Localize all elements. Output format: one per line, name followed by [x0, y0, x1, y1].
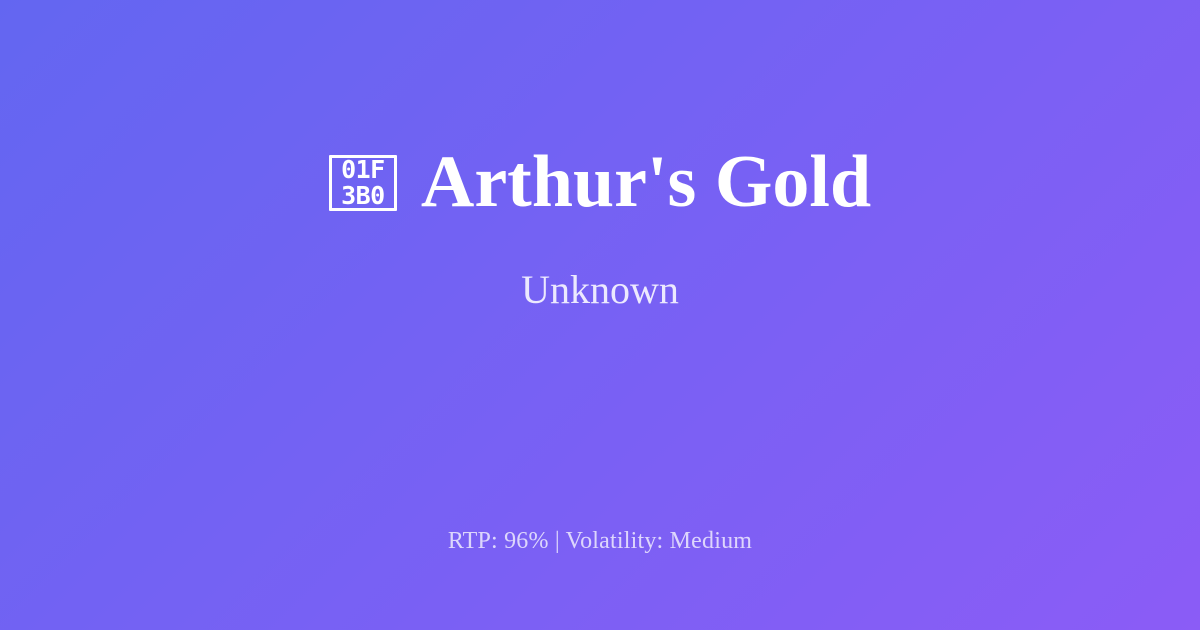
tofu-hex-bottom: 3B0	[341, 183, 385, 209]
hero-block: 01F 3B0 Arthur's Gold Unknown	[0, 0, 1200, 502]
game-og-card: 01F 3B0 Arthur's Gold Unknown RTP: 96% |…	[0, 0, 1200, 630]
provider-subtitle: Unknown	[521, 266, 679, 314]
slot-machine-icon: 01F 3B0	[329, 155, 397, 211]
game-stats-line: RTP: 96% | Volatility: Medium	[448, 527, 752, 556]
title-row: 01F 3B0 Arthur's Gold	[0, 142, 1200, 223]
page-title: Arthur's Gold	[421, 142, 871, 223]
footer-meta-strip: RTP: 96% | Volatility: Medium	[0, 502, 1200, 630]
tofu-hex-top: 01F	[341, 157, 385, 183]
